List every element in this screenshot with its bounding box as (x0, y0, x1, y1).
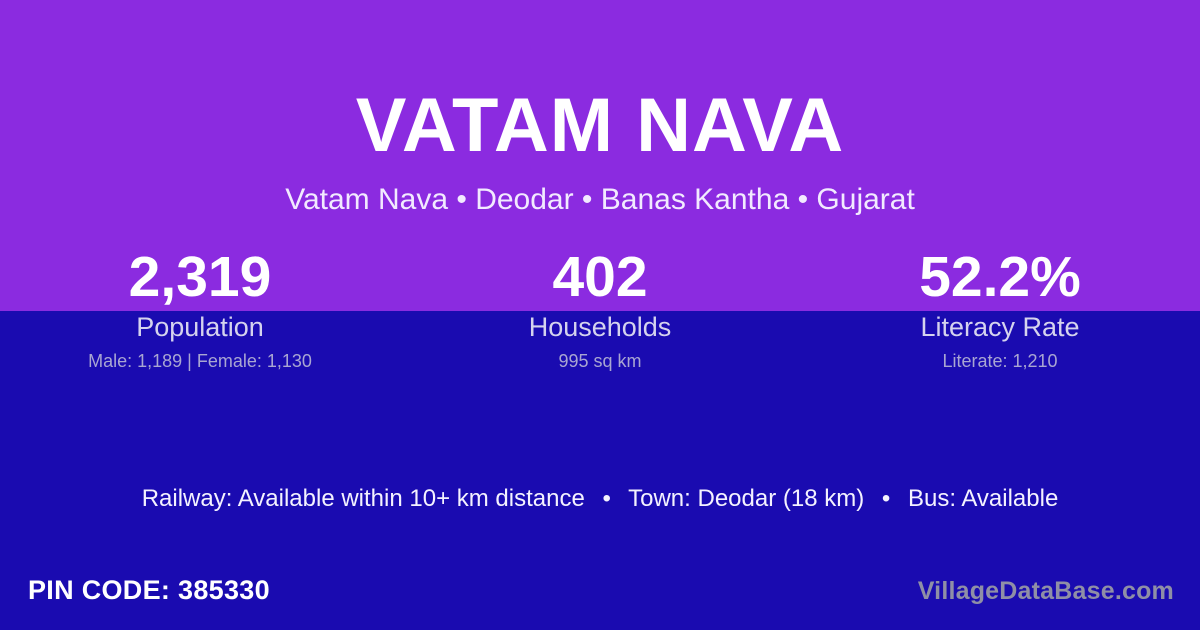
page-title: VATAM NAVA (0, 88, 1200, 164)
stat-value: 2,319 (0, 244, 400, 310)
stat-population: 2,319 Population Male: 1,189 | Female: 1… (0, 244, 400, 372)
card-footer: PIN CODE: 385330 VillageDataBase.com (0, 573, 1200, 613)
stat-households: 402 Households 995 sq km (400, 244, 800, 372)
amenity-bus: Bus: Available (908, 485, 1058, 512)
breadcrumb: Vatam Nava • Deodar • Banas Kantha • Guj… (0, 182, 1200, 218)
stat-sub-detail: Literate: 1,210 (800, 350, 1200, 372)
amenities-line: Railway: Available within 10+ km distanc… (0, 484, 1200, 514)
stat-value: 52.2% (800, 244, 1200, 310)
site-brand: VillageDataBase.com (918, 575, 1174, 607)
pin-code: PIN CODE: 385330 (28, 573, 270, 607)
stat-value: 402 (400, 244, 800, 310)
village-info-card: VATAM NAVA Vatam Nava • Deodar • Banas K… (0, 0, 1200, 630)
stat-literacy-rate: 52.2% Literacy Rate Literate: 1,210 (800, 244, 1200, 372)
bullet-separator-icon: • (591, 484, 621, 514)
stat-sub-detail: 995 sq km (400, 350, 800, 372)
stat-label: Households (400, 310, 800, 344)
amenity-railway: Railway: Available within 10+ km distanc… (142, 485, 585, 512)
amenity-town: Town: Deodar (18 km) (628, 485, 864, 512)
stat-sub-detail: Male: 1,189 | Female: 1,130 (0, 350, 400, 372)
bullet-separator-icon: • (871, 484, 901, 514)
stats-row: 2,319 Population Male: 1,189 | Female: 1… (0, 244, 1200, 372)
stat-label: Population (0, 310, 400, 344)
stat-label: Literacy Rate (800, 310, 1200, 344)
